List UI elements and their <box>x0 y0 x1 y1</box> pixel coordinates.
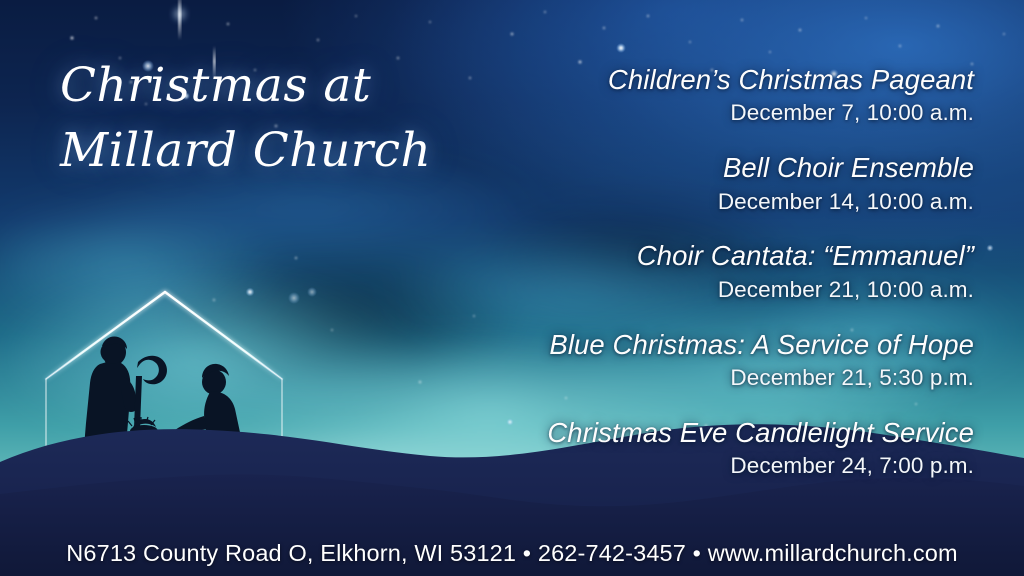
christmas-poster: Christmas at Millard Church Children’s C… <box>0 0 1024 576</box>
event-date: December 7, 10:00 a.m. <box>414 96 974 130</box>
event-name: Bell Choir Ensemble <box>414 152 974 184</box>
event-list: Children’s Christmas Pageant December 7,… <box>414 64 974 483</box>
event-date: December 14, 10:00 a.m. <box>414 185 974 219</box>
list-item: Children’s Christmas Pageant December 7,… <box>414 64 974 130</box>
list-item: Choir Cantata: “Emmanuel” December 21, 1… <box>414 240 974 306</box>
list-item: Bell Choir Ensemble December 14, 10:00 a… <box>414 152 974 218</box>
list-item: Blue Christmas: A Service of Hope Decemb… <box>414 329 974 395</box>
event-date: December 21, 5:30 p.m. <box>414 361 974 395</box>
footer-contact-info: N6713 County Road O, Elkhorn, WI 53121 •… <box>0 540 1024 567</box>
event-name: Christmas Eve Candlelight Service <box>414 417 974 449</box>
event-name: Blue Christmas: A Service of Hope <box>414 329 974 361</box>
event-name: Choir Cantata: “Emmanuel” <box>414 240 974 272</box>
event-date: December 21, 10:00 a.m. <box>414 273 974 307</box>
list-item: Christmas Eve Candlelight Service Decemb… <box>414 417 974 483</box>
event-date: December 24, 7:00 p.m. <box>414 449 974 483</box>
event-name: Children’s Christmas Pageant <box>414 64 974 96</box>
